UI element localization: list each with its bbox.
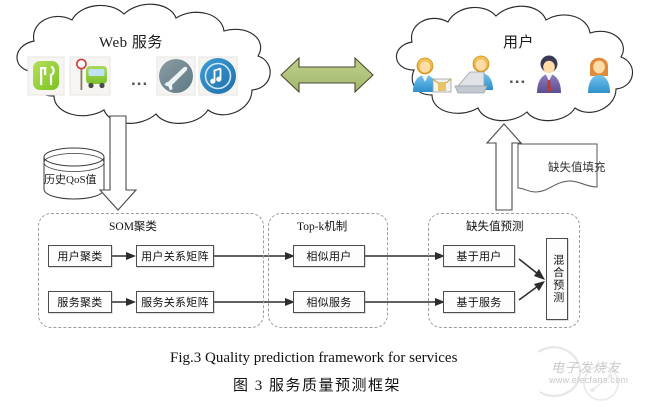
panel-title-topk-mechanism: Top-k机制: [297, 218, 347, 234]
woman-user-icon: [588, 58, 610, 93]
panel-title-som-clustering: SOM聚类: [109, 218, 157, 234]
watermark-text-url: www.elecfans.com: [549, 375, 628, 385]
box-user-based[interactable]: 基于用户: [443, 245, 515, 267]
box-service-clustering[interactable]: 服务聚类: [48, 291, 112, 313]
watermark-text-cn: 电子发烧友: [551, 357, 621, 376]
figure-caption-zh: 图 3 服务质量预测框架: [233, 374, 401, 395]
users-label: 用户: [503, 31, 534, 52]
airplane-icon: [157, 57, 195, 95]
historical-qos-db-label: 历史QoS值: [44, 171, 97, 187]
missing-value-filling-label: 缺失值填充: [548, 159, 606, 175]
box-hybrid-prediction[interactable]: 混合预测: [546, 238, 568, 320]
arrow-web-to-som: [100, 116, 136, 210]
box-similar-users[interactable]: 相似用户: [293, 245, 365, 267]
bus-stop-icon: [70, 57, 110, 95]
diagram-vector-layer: [0, 0, 657, 407]
music-icon: [199, 57, 237, 95]
box-similar-services[interactable]: 相似服务: [293, 291, 365, 313]
box-user-clustering[interactable]: 用户聚类: [48, 245, 112, 267]
figure-canvas: Web 服务 用户 ... ... 历史QoS值 缺失值填充 SOM聚类 用户聚…: [0, 0, 657, 407]
arrow-prediction-to-users: [487, 124, 521, 210]
figure-caption-en: Fig.3 Quality prediction framework for s…: [170, 350, 457, 367]
web-services-label: Web 服务: [99, 31, 163, 52]
box-service-relation-matrix[interactable]: 服务关系矩阵: [136, 291, 214, 313]
box-user-relation-matrix[interactable]: 用户关系矩阵: [136, 245, 214, 267]
user-icons-ellipsis: ...: [509, 69, 526, 86]
service-icons-ellipsis: ...: [131, 71, 148, 88]
panel-title-missing-value-prediction: 缺失值预测: [466, 218, 524, 234]
restaurant-icon: [28, 57, 64, 95]
bidirectional-arrow-clouds: [281, 58, 373, 92]
box-service-based[interactable]: 基于服务: [443, 291, 515, 313]
